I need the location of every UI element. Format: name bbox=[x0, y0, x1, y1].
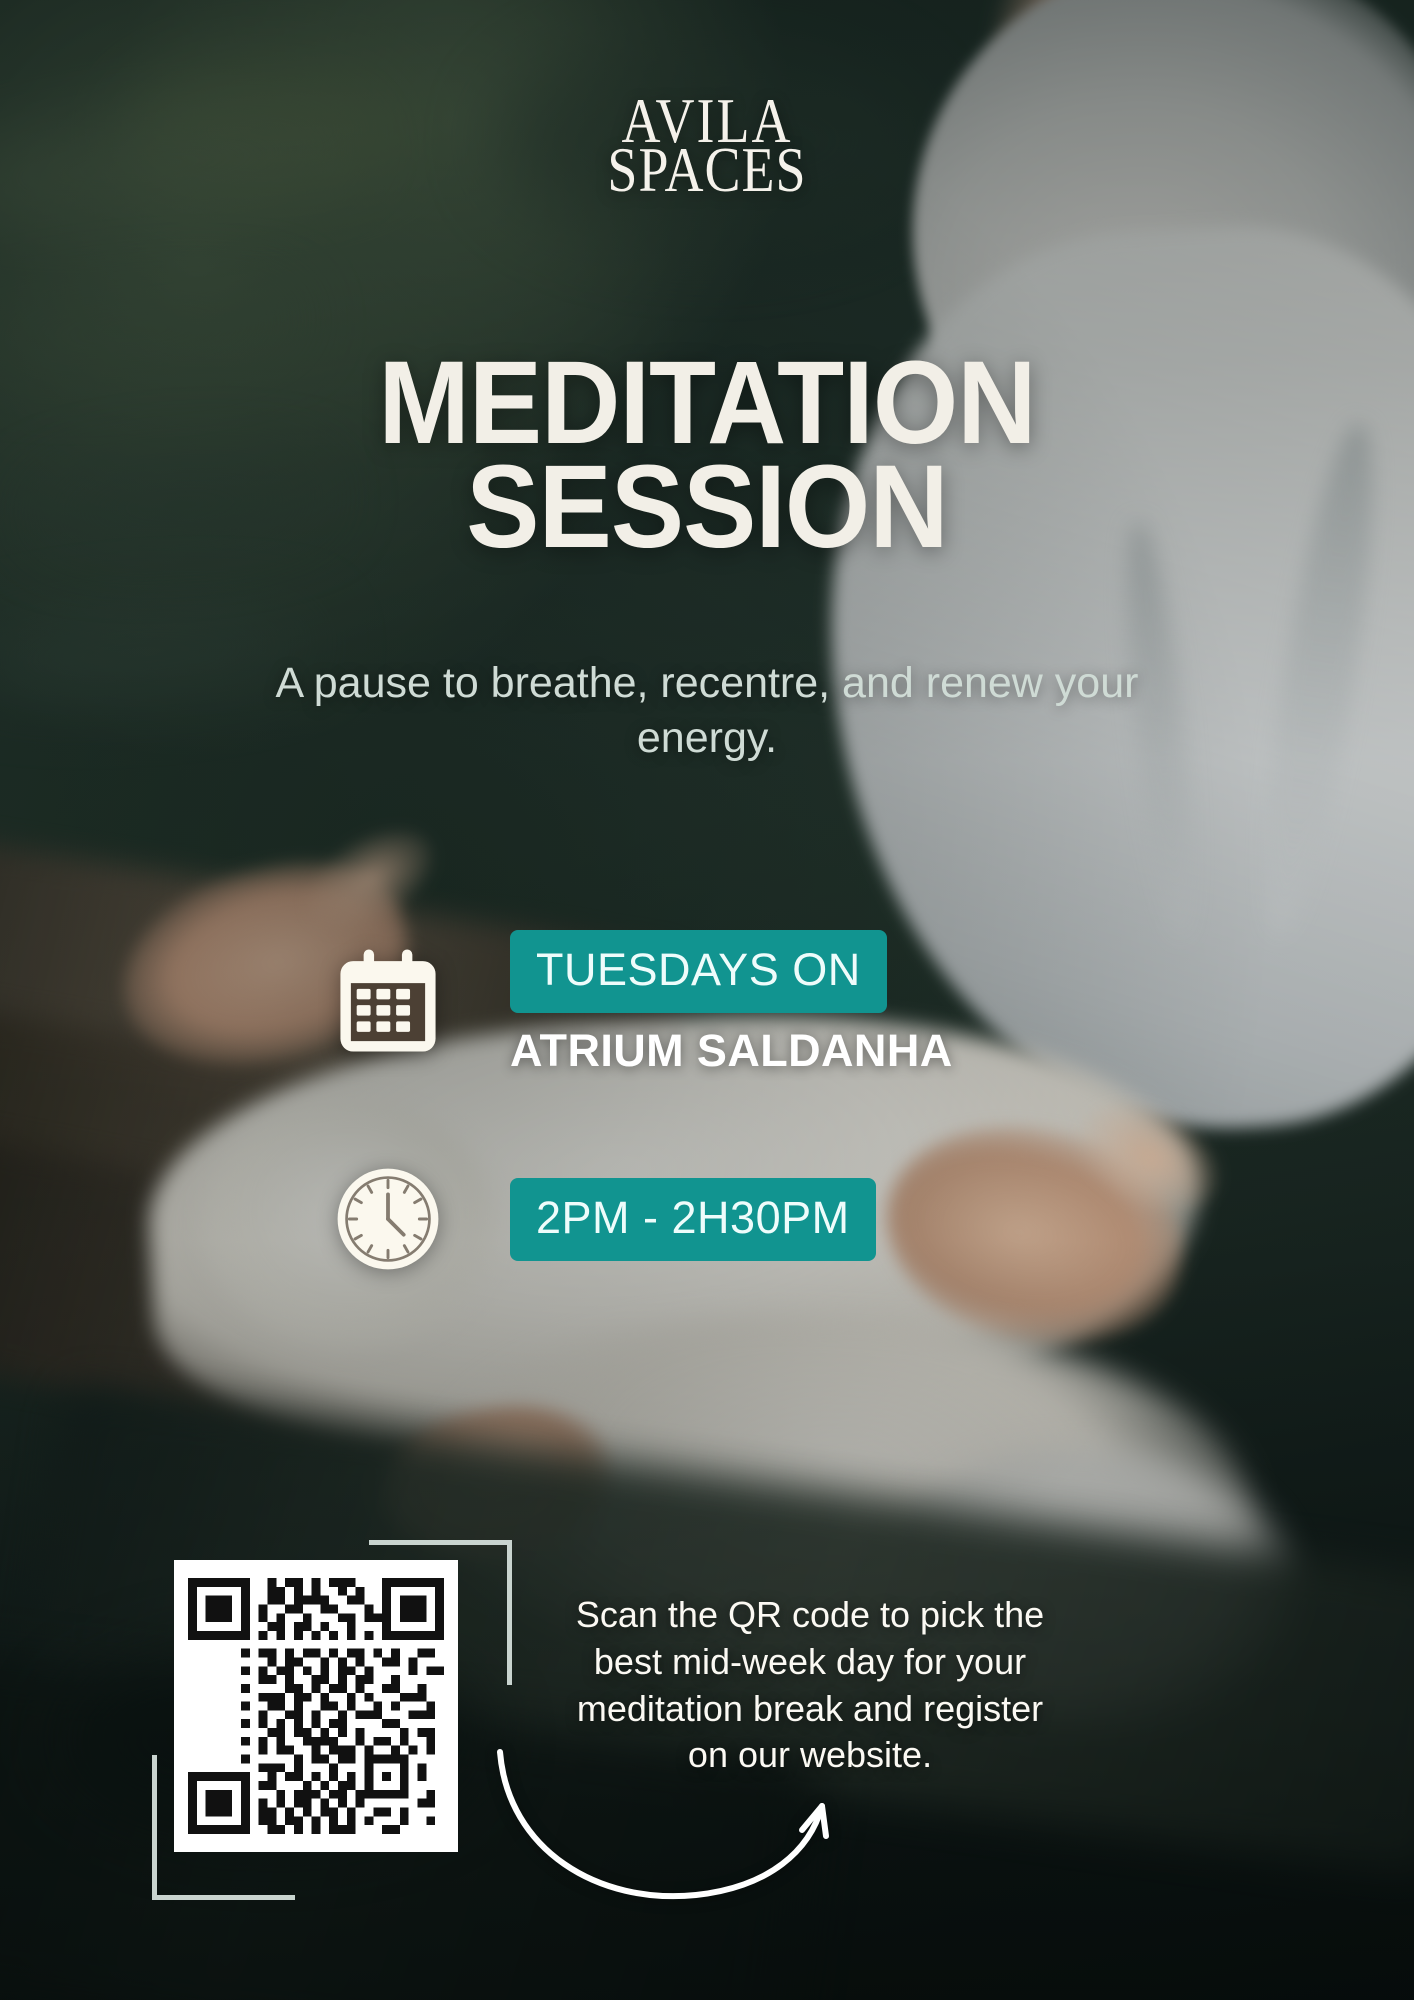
time-texts: 2PM - 2H30PM bbox=[510, 1178, 1078, 1261]
date-badge: TUESDAYS ON bbox=[510, 930, 887, 1013]
event-detail-time: 2PM - 2H30PM bbox=[318, 1149, 1078, 1289]
subtitle: A pause to breathe, recentre, and renew … bbox=[247, 656, 1167, 766]
cta-text: Scan the QR code to pick the best mid-we… bbox=[560, 1592, 1060, 1779]
venue-label: ATRIUM SALDANHA bbox=[510, 1025, 1078, 1077]
event-detail-date: TUESDAYS ON ATRIUM SALDANHA bbox=[318, 930, 1078, 1077]
brand-logo: AVILA SPACES bbox=[0, 100, 1414, 192]
date-texts: TUESDAYS ON ATRIUM SALDANHA bbox=[510, 930, 1078, 1077]
poster-content: AVILA SPACES MEDITATION SESSION A pause … bbox=[0, 0, 1414, 2000]
event-details: TUESDAYS ON ATRIUM SALDANHA bbox=[318, 930, 1078, 1289]
calendar-icon bbox=[318, 934, 458, 1074]
poster: AVILA SPACES MEDITATION SESSION A pause … bbox=[0, 0, 1414, 2000]
headline-line2: SESSION bbox=[49, 456, 1364, 560]
brand-logo-line2: SPACES bbox=[0, 145, 1414, 196]
time-badge: 2PM - 2H30PM bbox=[510, 1178, 876, 1261]
qr-code-block bbox=[152, 1540, 512, 1900]
page-title: MEDITATION SESSION bbox=[0, 352, 1414, 560]
qr-code[interactable] bbox=[174, 1560, 458, 1852]
clock-icon bbox=[318, 1149, 458, 1289]
